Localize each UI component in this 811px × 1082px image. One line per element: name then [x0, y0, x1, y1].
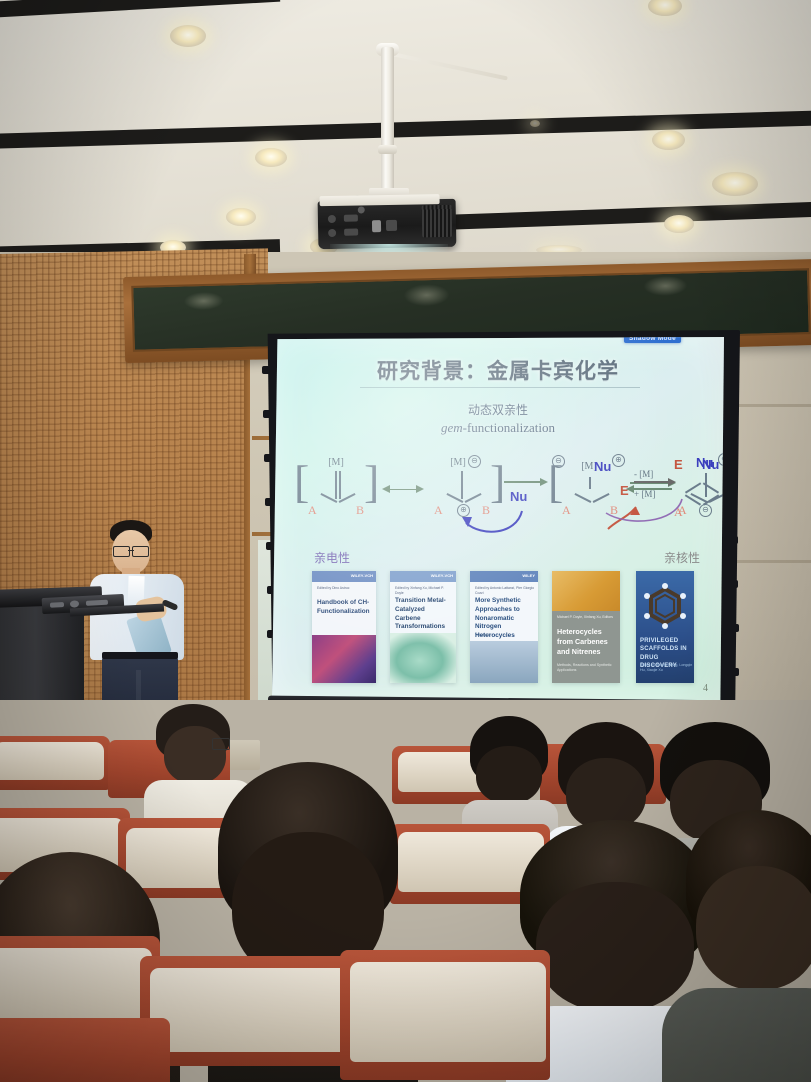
projector-brace — [392, 52, 508, 80]
audience-member — [470, 716, 548, 826]
ceiling-beam — [0, 0, 280, 18]
charge-minus-badge: ⊖ — [468, 455, 481, 468]
projector-port — [372, 220, 381, 232]
book-publisher: WILEY-VCH — [431, 573, 453, 578]
book-subtitle: Edited by Binghe Wang, Longqin Hu, Xiaoj… — [640, 663, 694, 672]
projector-port — [386, 220, 397, 231]
blackboard-glare — [643, 275, 688, 296]
projector-rod-ring — [378, 145, 397, 154]
audience-shirt — [662, 988, 811, 1082]
head — [536, 882, 694, 1012]
lectern-knob[interactable] — [70, 600, 79, 607]
bracket-close-1: ] — [364, 459, 379, 505]
nu-curved-arrow-2 — [598, 495, 688, 529]
book-band — [552, 571, 620, 611]
screen-tension-tab — [727, 624, 739, 632]
slide-subtitle-cn: 动态双亲性 — [272, 401, 724, 418]
projector-port — [344, 229, 358, 236]
screen-tension-tab — [725, 492, 737, 500]
lectern-button[interactable] — [50, 602, 64, 608]
projector-port — [328, 215, 336, 223]
book-subtitle: Volume 1 — [475, 633, 490, 638]
nu-reaction-arrow-line — [504, 481, 542, 483]
double-bond-line — [335, 471, 337, 499]
screen-tension-tab — [262, 366, 274, 374]
book-band: WILEY-VCH — [312, 571, 376, 582]
screen-tension-tab — [263, 410, 275, 418]
head — [696, 866, 811, 990]
lectern-slider[interactable] — [86, 600, 108, 606]
head — [164, 726, 226, 784]
book-authors: Edited by Xinfang Xu, Michael P. Doyle — [395, 586, 452, 596]
book-cover: Michael P. Doyle, Xinfang Xu, Editors He… — [552, 571, 620, 683]
book-authors: Edited by Antonio Lattanzi, Pier Giorgio… — [475, 586, 534, 596]
screen-tension-tab — [264, 454, 276, 462]
slide-number: 4 — [703, 683, 708, 694]
book-band: WILEY-VCH — [390, 571, 456, 582]
slide-title: 研究背景：金属卡宾化学 — [272, 355, 724, 385]
nucleophilicity-label: 亲核性 — [664, 549, 700, 566]
product-arrow-line — [634, 481, 670, 483]
book-subtitle: Methods, Reactions and Synthetic Applica… — [557, 663, 620, 672]
ceiling-downlight — [255, 148, 287, 167]
bond-to-a — [575, 493, 592, 503]
slide-subtitle-en: gem-functionalization — [272, 420, 724, 436]
book-publisher: WILEY — [522, 573, 535, 578]
seat-cushion — [0, 948, 152, 1024]
bond-to-b — [465, 493, 482, 503]
book-cover: WILEY-VCH Edited by Xinfang Xu, Michael … — [390, 571, 456, 683]
projector-port — [344, 215, 358, 222]
title-divider — [360, 387, 640, 388]
bond-to-b — [339, 493, 356, 503]
seat-cushion — [0, 742, 104, 780]
ceiling-downlight — [226, 208, 256, 226]
benzene-ring-icon — [642, 583, 688, 629]
metal-label: [M] — [424, 457, 492, 468]
projector-rod — [381, 47, 394, 197]
glasses-icon — [113, 546, 149, 555]
metal-label: [M] — [306, 457, 366, 468]
shadow-mode-badge: Shadow Mode — [624, 337, 681, 343]
book-title: Heterocycles from Carbenes and Nitrenes — [557, 627, 616, 657]
nu-reaction-arrow-head — [540, 478, 548, 486]
seat — [0, 1018, 170, 1082]
screen-tension-tab — [726, 580, 738, 588]
ceiling-beam — [440, 201, 811, 230]
glasses-icon — [212, 738, 230, 750]
nucleophile-label-1: Nu — [510, 489, 527, 504]
charge-plus-badge: ⊕ — [612, 454, 625, 467]
blackboard-glare — [183, 291, 223, 310]
book-artwork — [390, 633, 456, 683]
audience-seating — [0, 700, 811, 1082]
head — [476, 746, 542, 804]
book-authors: Edited by Dino Astruc — [317, 586, 372, 591]
nucleophile-label-4: Nu — [702, 457, 719, 472]
seat-cushion — [350, 962, 546, 1062]
bond-e — [685, 482, 701, 493]
book-title: Transition Metal-Catalyzed Carbene Trans… — [395, 597, 452, 632]
book-band: WILEY — [470, 571, 538, 582]
bond-line — [461, 471, 463, 499]
bond-nu — [703, 482, 719, 493]
screen-tension-tab — [724, 360, 736, 368]
book-title: Handbook of CH-Functionalization — [317, 599, 372, 617]
book-artwork — [312, 635, 376, 683]
ceiling-downlight — [648, 0, 682, 16]
functionalization-text: -functionalization — [463, 420, 555, 435]
gem-italic: gem — [441, 420, 463, 435]
ceiling — [0, 0, 811, 262]
ceiling-beam — [0, 110, 811, 149]
screen-tension-tab — [724, 404, 736, 412]
ceiling-downlight — [712, 172, 758, 196]
electrophile-label-2: E — [674, 457, 683, 472]
lecture-hall-photo: Shadow Mode 研究背景：金属卡宾化学 动态双亲性 gem-functi… — [0, 0, 811, 1082]
screen-tension-tab — [725, 448, 737, 456]
projector-port — [328, 229, 336, 237]
bond-to-b — [703, 494, 719, 505]
blackboard-glare — [403, 284, 450, 307]
nucleophile-label-2: Nu — [594, 459, 611, 474]
presenter-belt — [102, 652, 178, 659]
book-publisher: WILEY-VCH — [351, 573, 373, 578]
equilibrium-label-top: - [M] — [634, 469, 653, 479]
projected-slide: Shadow Mode 研究背景：金属卡宾化学 动态双亲性 gem-functi… — [272, 337, 724, 701]
ceiling-downlight — [170, 25, 206, 47]
screen-tension-tab — [727, 668, 739, 676]
seat-cushion — [150, 968, 354, 1052]
book-cover: WILEY Edited by Antonio Lattanzi, Pier G… — [470, 571, 538, 683]
book-artwork — [470, 641, 538, 683]
ceiling-downlight — [664, 215, 694, 233]
book-authors: Michael P. Doyle, Xinfang Xu, Editors — [557, 615, 616, 620]
book-cover: PRIVILEGED SCAFFOLDS IN DRUG DISCOVERY E… — [636, 571, 694, 683]
book-cover-row: WILEY-VCH Edited by Dino Astruc Handbook… — [312, 571, 692, 687]
screen-tension-tab — [726, 536, 738, 544]
ceiling-projector — [318, 199, 457, 249]
resonance-arrow-right-head — [416, 485, 424, 493]
audience-member-foreground — [686, 810, 811, 1070]
resonance-arrow-line — [388, 489, 418, 491]
ceiling-downlight — [652, 130, 685, 150]
projector-lens-indicator — [358, 206, 365, 213]
bond-line — [589, 477, 591, 489]
ceiling-smoke-detector — [530, 120, 540, 127]
projection-screen-assembly: Shadow Mode 研究背景：金属卡宾化学 动态双亲性 gem-functi… — [258, 330, 740, 708]
book-cover: WILEY-VCH Edited by Dino Astruc Handbook… — [312, 571, 376, 683]
electrophilicity-label: 亲电性 — [314, 549, 350, 566]
double-bond-line — [339, 471, 341, 499]
projector-vent — [422, 205, 453, 238]
